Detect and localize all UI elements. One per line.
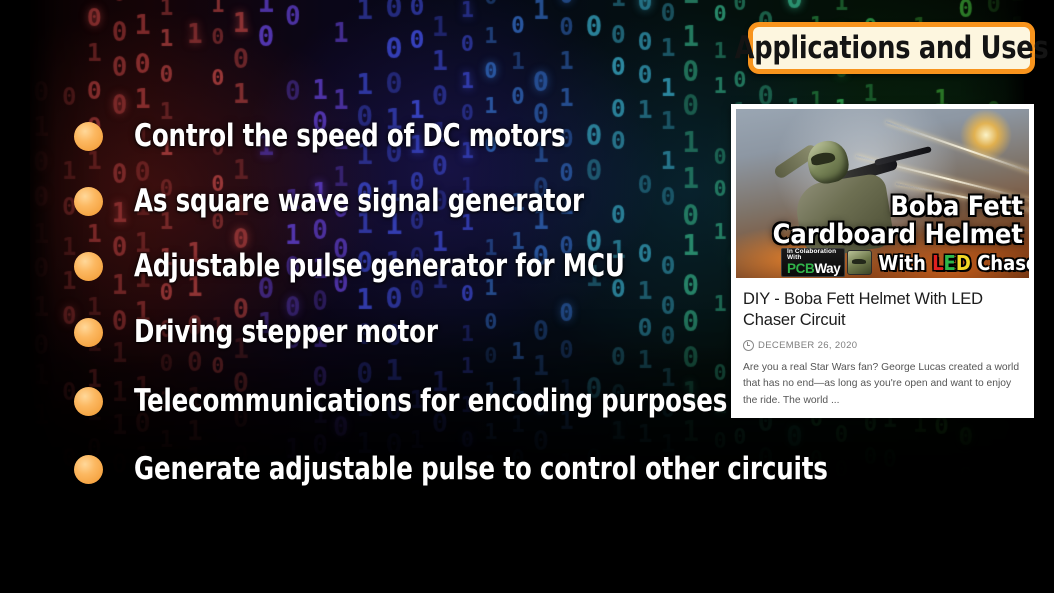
bullet-label: Control the speed of DC motors [134, 121, 565, 152]
bullet-dot-icon [74, 387, 103, 416]
bullet-label: As square wave signal generator [134, 186, 584, 217]
pcbway-logo-way: Way [814, 261, 840, 276]
article-headline[interactable]: DIY - Boba Fett Helmet With LED Chaser C… [743, 289, 1022, 331]
presentation-slide: Applications and Uses Control the speed … [0, 0, 1054, 593]
bullet-item: Driving stepper motor [74, 317, 479, 348]
chaser-word: Chaser [977, 251, 1029, 275]
article-excerpt: Are you a real Star Wars fan? George Luc… [743, 360, 1022, 410]
article-meta: DECEMBER 26, 2020 [743, 340, 1022, 351]
thumbnail-badge-row: In Colaboration With PCBWay With LED Cha… [781, 250, 1023, 275]
bullet-dot-icon [74, 455, 103, 484]
bullet-label: Telecommunications for encoding purposes [134, 386, 727, 417]
thumbnail-title-line-2: Cardboard Helmet [773, 221, 1023, 248]
bullet-dot-icon [74, 122, 103, 151]
slide-title-badge: Applications and Uses [748, 22, 1035, 74]
pcbway-logo: PCBWay [787, 262, 840, 276]
clock-icon [743, 340, 754, 351]
bullet-dot-icon [74, 187, 103, 216]
bullet-list: Control the speed of DC motors As square… [0, 0, 760, 593]
slide-title-text: Applications and Uses [735, 33, 1049, 64]
bullet-item: Control the speed of DC motors [74, 121, 624, 152]
led-letter-d: D [956, 251, 971, 275]
pcbway-logo-pcb: PCB [787, 261, 814, 276]
article-thumbnail[interactable]: Boba Fett Cardboard Helmet In Colaborati… [736, 109, 1029, 278]
with-word: With [878, 251, 925, 275]
bullet-item: Telecommunications for encoding purposes [74, 386, 808, 417]
led-letter-e: E [944, 251, 956, 275]
bullet-item: Adjustable pulse generator for MCU [74, 251, 691, 282]
helmet-badge-icon [847, 250, 872, 275]
bullet-dot-icon [74, 252, 103, 281]
blaster-barrel-shape [874, 146, 932, 166]
article-card[interactable]: Boba Fett Cardboard Helmet In Colaborati… [731, 104, 1034, 418]
led-letter-l: L [932, 251, 943, 275]
article-card-body: DIY - Boba Fett Helmet With LED Chaser C… [731, 278, 1034, 410]
bullet-label: Generate adjustable pulse to control oth… [134, 454, 828, 485]
thumbnail-title-line-1: Boba Fett [890, 193, 1023, 220]
bullet-dot-icon [74, 318, 103, 347]
bullet-label: Driving stepper motor [134, 317, 438, 348]
with-led-chaser-text: With LED Chaser [878, 253, 1029, 273]
article-date: DECEMBER 26, 2020 [758, 340, 857, 351]
bullet-item: Generate adjustable pulse to control oth… [74, 454, 922, 485]
bullet-label: Adjustable pulse generator for MCU [134, 251, 625, 282]
bullet-item: As square wave signal generator [74, 186, 645, 217]
pcbway-collab-badge: In Colaboration With PCBWay [781, 248, 845, 277]
